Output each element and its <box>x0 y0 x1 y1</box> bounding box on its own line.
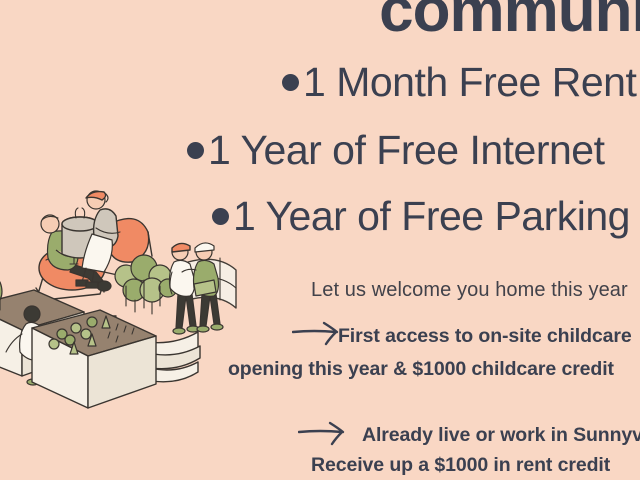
offer-label: 1 Year of Free Internet <box>208 130 605 171</box>
bullet-dot-icon <box>282 74 299 91</box>
offer-item-parking: 1 Year of Free Parking <box>212 196 630 237</box>
offer-item-rent: 1 Month Free Rent <box>282 62 636 103</box>
bullet-dot-icon <box>187 142 204 159</box>
arrow-right-icon <box>298 421 354 447</box>
perk-childcare-line-2: opening this year & $1000 childcare cred… <box>228 358 614 381</box>
bullet-dot-icon <box>212 208 229 225</box>
poster-copy: community 1 Month Free Rent 1 Year of Fr… <box>0 0 640 480</box>
tagline: Let us welcome you home this year <box>311 279 628 302</box>
perk-childcare-line-1: First access to on-site childcare <box>338 325 632 348</box>
offer-label: 1 Month Free Rent <box>303 62 636 103</box>
promo-poster: .ol { stroke:#3a3530; stroke-width:1.4; … <box>0 0 640 480</box>
perk-local-line-2: Receive up a $1000 in rent credit <box>311 454 610 477</box>
offer-label: 1 Year of Free Parking <box>233 196 630 237</box>
perk-local-line-1: Already live or work in Sunnyvale? <box>362 424 640 447</box>
offer-item-internet: 1 Year of Free Internet <box>187 130 605 171</box>
page-title: community <box>0 0 640 42</box>
